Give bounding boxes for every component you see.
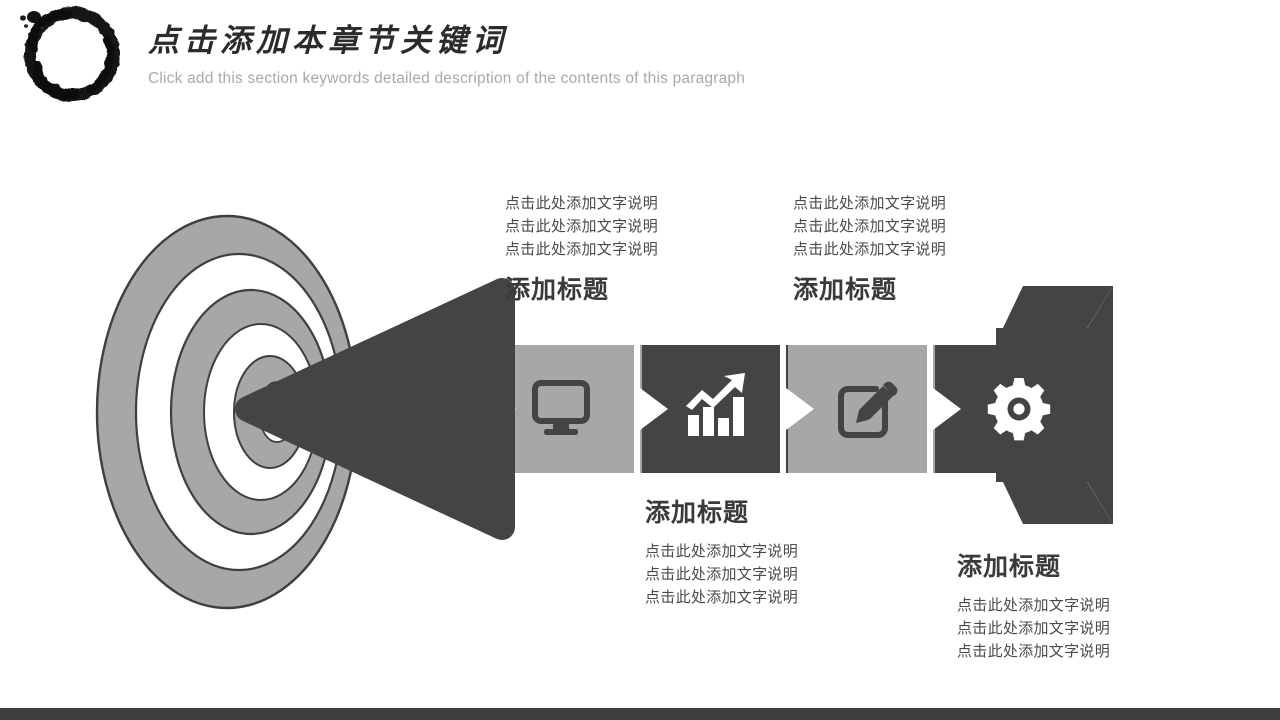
callout-2-line-2: 点击此处添加文字说明 (793, 216, 946, 239)
callout-2: 点击此处添加文字说明 点击此处添加文字说明 点击此处添加文字说明 添加标题 (793, 193, 946, 305)
callout-2-lines: 点击此处添加文字说明 点击此处添加文字说明 点击此处添加文字说明 (793, 193, 946, 261)
callout-3-line-3: 点击此处添加文字说明 (645, 587, 798, 610)
callout-4-heading: 添加标题 (957, 552, 1110, 582)
page-subtitle: Click add this section keywords detailed… (148, 70, 745, 89)
callout-3-heading: 添加标题 (645, 498, 798, 528)
callout-2-line-1: 点击此处添加文字说明 (793, 193, 946, 216)
callout-1-heading: 添加标题 (505, 275, 658, 305)
callout-4-line-1: 点击此处添加文字说明 (957, 595, 1110, 618)
callout-1-lines: 点击此处添加文字说明 点击此处添加文字说明 点击此处添加文字说明 (505, 193, 658, 261)
callout-4-lines: 点击此处添加文字说明 点击此处添加文字说明 点击此处添加文字说明 (957, 595, 1110, 663)
slide-header: 点击添加本章节关键词 Click add this section keywor… (0, 0, 1280, 110)
callout-1-line-1: 点击此处添加文字说明 (505, 193, 658, 216)
enso-brush-circle-icon (12, 4, 130, 102)
bottom-accent-bar (0, 708, 1280, 720)
callout-4-line-2: 点击此处添加文字说明 (957, 618, 1110, 641)
callout-1-line-2: 点击此处添加文字说明 (505, 216, 658, 239)
callout-4-line-3: 点击此处添加文字说明 (957, 641, 1110, 664)
page-title: 点击添加本章节关键词 (148, 22, 745, 61)
callout-2-line-3: 点击此处添加文字说明 (793, 239, 946, 262)
callout-1-line-3: 点击此处添加文字说明 (505, 239, 658, 262)
header-title-block: 点击添加本章节关键词 Click add this section keywor… (148, 22, 745, 88)
callout-3-line-1: 点击此处添加文字说明 (645, 541, 798, 564)
callout-2-heading: 添加标题 (793, 275, 946, 305)
callout-1: 点击此处添加文字说明 点击此处添加文字说明 点击此处添加文字说明 添加标题 (505, 193, 658, 305)
callout-3-lines: 点击此处添加文字说明 点击此处添加文字说明 点击此处添加文字说明 (645, 541, 798, 609)
callout-3: 添加标题 点击此处添加文字说明 点击此处添加文字说明 点击此处添加文字说明 (645, 498, 798, 609)
callout-3-line-2: 点击此处添加文字说明 (645, 564, 798, 587)
slide-canvas: 点击添加本章节关键词 Click add this section keywor… (0, 0, 1280, 720)
callout-4: 添加标题 点击此处添加文字说明 点击此处添加文字说明 点击此处添加文字说明 (957, 552, 1110, 663)
